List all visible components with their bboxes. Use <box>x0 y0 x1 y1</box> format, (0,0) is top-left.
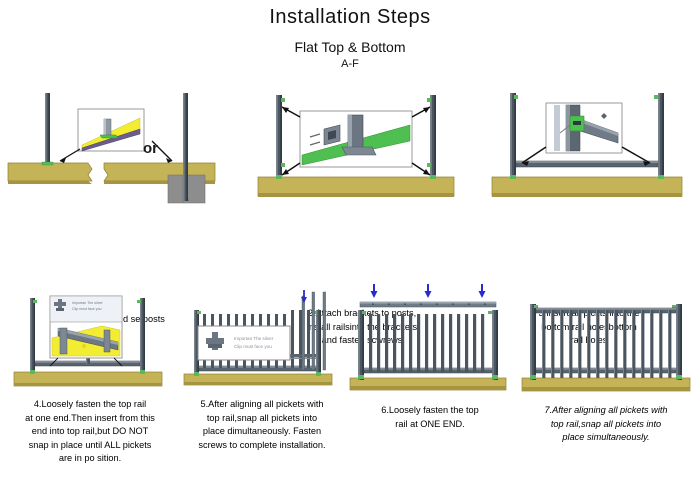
inset-detail-bracket-assembly <box>300 111 412 167</box>
step-panel-4: Importan The silver Clip must face you 4… <box>0 280 180 495</box>
caption-step-4: 4.Loosely fasten the top rail at one end… <box>0 398 186 466</box>
post-set-in-concrete <box>183 93 188 201</box>
deck-base <box>184 374 332 385</box>
deck-base <box>522 378 690 391</box>
svg-text:Clip must face you: Clip must face you <box>234 344 272 349</box>
step-panel-3: 3.Insert all pickts into the bottom rail… <box>478 85 700 285</box>
deck-base <box>258 177 454 197</box>
caption-step-5: 5.After aligning all pickets with top ra… <box>174 398 350 452</box>
bottom-rail <box>199 366 316 371</box>
step-panel-1: or 1. Align and setposts <box>0 85 245 285</box>
post-surface-mounted <box>42 93 53 165</box>
diagram-loosely-fasten-top-rail: Importan The silver Clip must face you <box>0 280 180 392</box>
or-label: or <box>143 140 158 157</box>
diagram-align-and-setposts <box>0 85 245 205</box>
diagram-loosely-fasten-top-rail-one-end <box>342 280 518 398</box>
diagram-align-and-snap-pickets: Importan The silver Clip must face you <box>176 280 348 392</box>
bottom-rail <box>516 161 658 167</box>
deck-left <box>8 163 92 184</box>
svg-text:Importan The silver: Importan The silver <box>72 301 103 305</box>
svg-text:Importan The silver: Importan The silver <box>234 336 274 341</box>
deck-base <box>350 378 506 390</box>
caption-step-6: 6.Loosely fasten the top rail at ONE END… <box>342 404 518 431</box>
top-rail-floating <box>360 302 496 307</box>
deck-base <box>14 372 162 386</box>
pickets-partial <box>291 310 310 368</box>
page-subtitle: Flat Top & Bottom <box>0 39 700 55</box>
inset-detail-clip-note: Importan The silver Clip must face you <box>198 326 290 360</box>
step-panel-6: 6.Loosely fasten the top rail at ONE END… <box>342 280 518 495</box>
page-subtitle-code: A-F <box>0 58 700 70</box>
diagram-completed-fence-section <box>512 280 700 398</box>
deck-base <box>492 177 682 197</box>
inset-detail-rail-bracket <box>546 103 622 153</box>
inset-detail-post-base <box>78 109 144 151</box>
header-block: Installation Steps Flat Top & Bottom A-F <box>0 6 700 70</box>
inset-detail-clip-note: Importan The silver Clip must face you <box>50 296 122 358</box>
pickets <box>542 310 671 378</box>
down-arrow-icons <box>371 284 486 298</box>
svg-text:Clip must face you: Clip must face you <box>72 307 102 311</box>
step-panel-5: Importan The silver Clip must face you 5… <box>176 280 348 495</box>
diagram-attach-brackets <box>248 85 476 203</box>
page-title: Installation Steps <box>0 6 700 29</box>
caption-step-7: 7.After aligning all pickets with top ra… <box>512 404 700 445</box>
diagram-insert-pickets-bottom-rail <box>478 85 700 203</box>
step-panel-7: 7.After aligning all pickets with top ra… <box>512 280 700 495</box>
pickets <box>369 314 484 372</box>
step-panel-2: 2.Attach brackets to posts, install rail… <box>248 85 476 285</box>
